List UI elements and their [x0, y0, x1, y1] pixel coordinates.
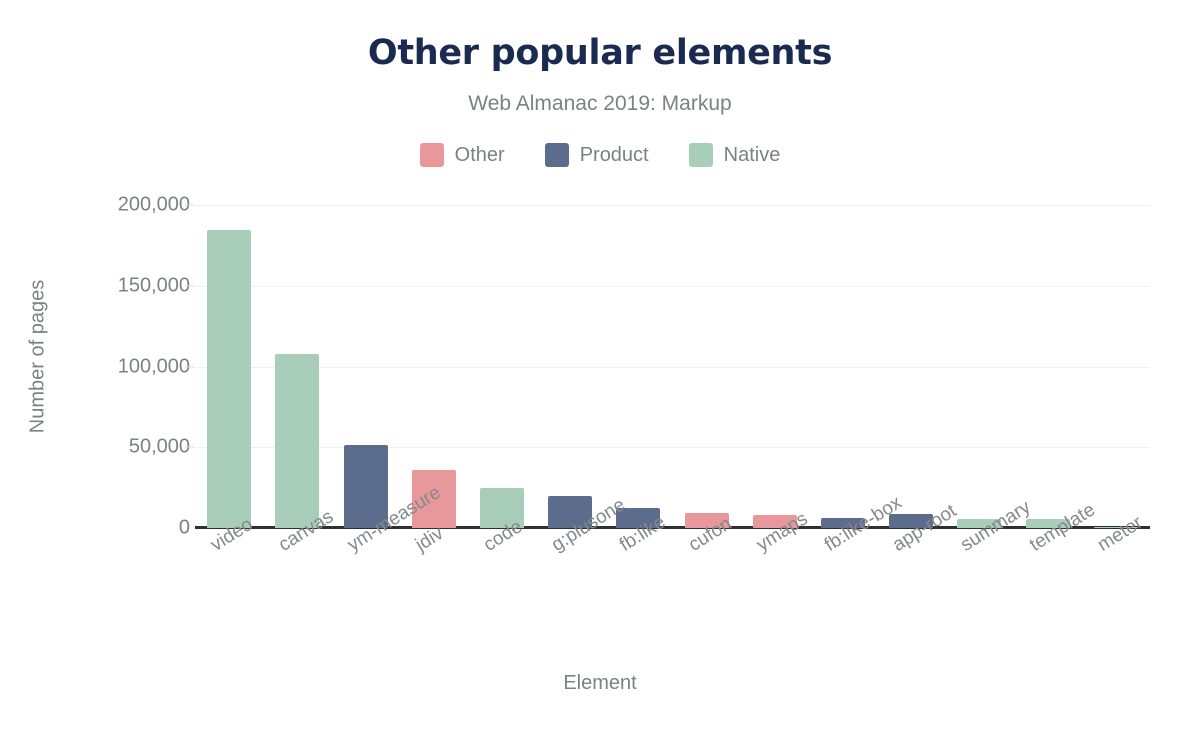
- legend-label: Other: [455, 144, 505, 167]
- y-axis-tick-label: 200,000: [40, 194, 190, 217]
- x-axis-title: Element: [0, 672, 1200, 695]
- chart-title: Other popular elements: [0, 33, 1200, 73]
- y-axis-tick-label: 100,000: [40, 355, 190, 378]
- bar-series-group: [195, 205, 1150, 528]
- legend-item-product[interactable]: Product: [545, 143, 649, 167]
- chart-container: Other popular elements Web Almanac 2019:…: [0, 0, 1200, 740]
- x-axis-tick-label: jdiv: [412, 523, 448, 557]
- y-axis-tick-label: 150,000: [40, 274, 190, 297]
- y-axis-tick-label: 50,000: [40, 436, 190, 459]
- y-axis-tick-label: 0: [40, 517, 190, 540]
- legend-label: Native: [724, 144, 781, 167]
- bar-canvas[interactable]: [275, 354, 319, 528]
- y-axis-tick-mark: [185, 205, 194, 206]
- chart-legend: OtherProductNative: [0, 143, 1200, 167]
- bar-video[interactable]: [207, 230, 251, 528]
- legend-swatch-icon: [420, 143, 444, 167]
- legend-item-native[interactable]: Native: [689, 143, 781, 167]
- chart-subtitle: Web Almanac 2019: Markup: [0, 92, 1200, 116]
- x-axis-tick-labels: videocanvasym-measurejdivcodeg:plusonefb…: [195, 528, 1150, 648]
- legend-label: Product: [580, 144, 649, 167]
- y-axis-tick-mark: [185, 285, 194, 286]
- y-axis-title: Number of pages: [27, 257, 50, 457]
- legend-item-other[interactable]: Other: [420, 143, 505, 167]
- legend-swatch-icon: [689, 143, 713, 167]
- y-axis-tick-mark: [185, 447, 194, 448]
- y-axis-tick-mark: [185, 366, 194, 367]
- legend-swatch-icon: [545, 143, 569, 167]
